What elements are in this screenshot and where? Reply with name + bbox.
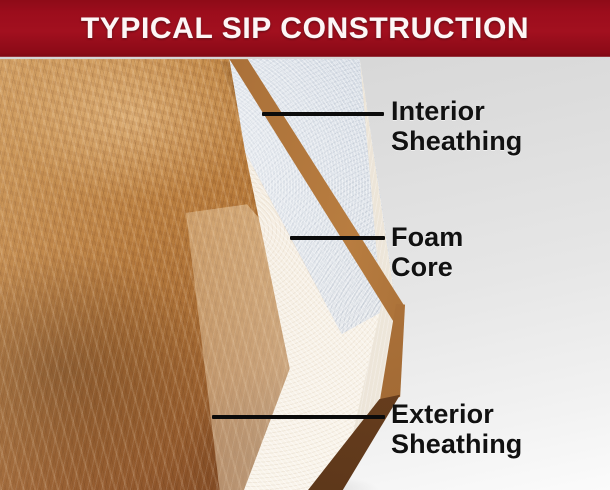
- title-band: TYPICAL SIP CONSTRUCTION: [0, 0, 610, 57]
- leader-line-interior-sheathing: [262, 112, 384, 116]
- leader-line-exterior-sheathing: [212, 415, 385, 419]
- leader-line-foam-core: [290, 236, 385, 240]
- label-foam-core: Foam Core: [391, 222, 463, 282]
- page-title: TYPICAL SIP CONSTRUCTION: [0, 12, 610, 46]
- label-exterior-sheathing: Exterior Sheathing: [391, 399, 522, 459]
- label-interior-sheathing: Interior Sheathing: [391, 96, 522, 156]
- sip-construction-figure: TYPICAL SIP CONSTRUCTION Interior Sheath…: [0, 0, 610, 490]
